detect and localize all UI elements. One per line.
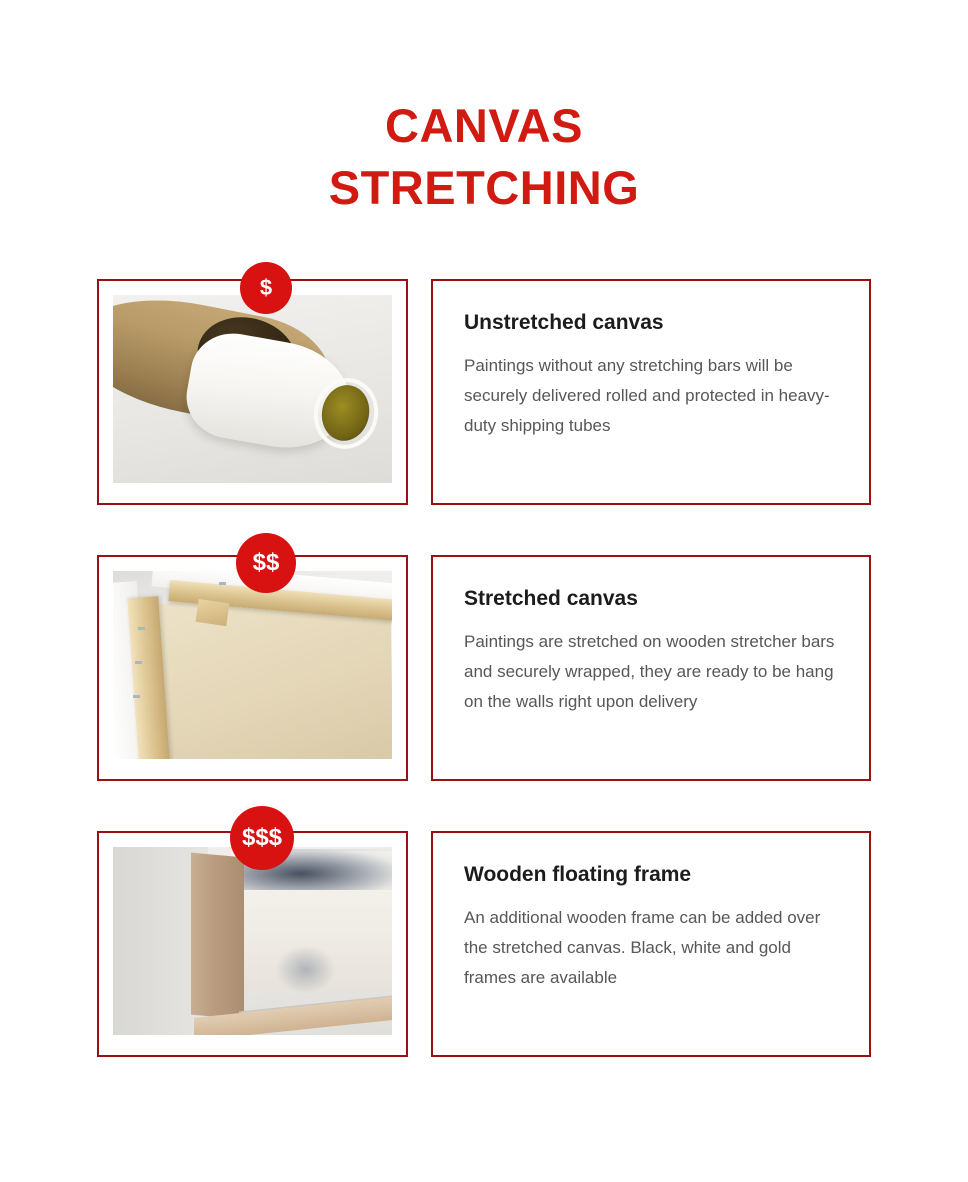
infographic-page: CANVAS STRETCHING $ Unstretched canvas P… (0, 0, 968, 1182)
stretched-canvas-photo (113, 571, 392, 759)
option-row: $$$ Wooden floating frame An additional … (0, 831, 968, 1078)
option-description: An additional wooden frame can be added … (464, 903, 838, 993)
page-title-line-1: CANVAS (0, 95, 968, 157)
shipping-tube-photo (113, 295, 392, 483)
staple-mark (219, 582, 226, 585)
option-description: Paintings are stretched on wooden stretc… (464, 627, 838, 717)
option-row: $ Unstretched canvas Paintings without a… (0, 279, 968, 526)
frame-side-shape (191, 852, 244, 1018)
price-badge: $$ (236, 533, 296, 593)
option-row: $$ Stretched canvas Paintings are stretc… (0, 555, 968, 802)
option-text-card: Unstretched canvas Paintings without any… (431, 279, 871, 505)
option-title: Unstretched canvas (464, 310, 838, 336)
option-title: Wooden floating frame (464, 862, 838, 888)
page-title: CANVAS STRETCHING (0, 95, 968, 219)
option-description: Paintings without any stretching bars wi… (464, 351, 838, 441)
staple-mark (135, 661, 142, 664)
staple-mark (138, 627, 145, 630)
price-badge: $$$ (230, 806, 294, 870)
option-text-card: Stretched canvas Paintings are stretched… (431, 555, 871, 781)
option-title: Stretched canvas (464, 586, 838, 612)
option-text-card: Wooden floating frame An additional wood… (431, 831, 871, 1057)
floating-frame-photo (113, 847, 392, 1035)
option-rows: $ Unstretched canvas Paintings without a… (0, 279, 968, 1107)
page-title-line-2: STRETCHING (0, 157, 968, 219)
price-badge: $ (240, 262, 292, 314)
stretcher-wedge-shape (195, 599, 229, 626)
option-image-card (97, 279, 408, 505)
staple-mark (133, 695, 140, 698)
artwork-ink-secondary-shape (275, 945, 336, 994)
